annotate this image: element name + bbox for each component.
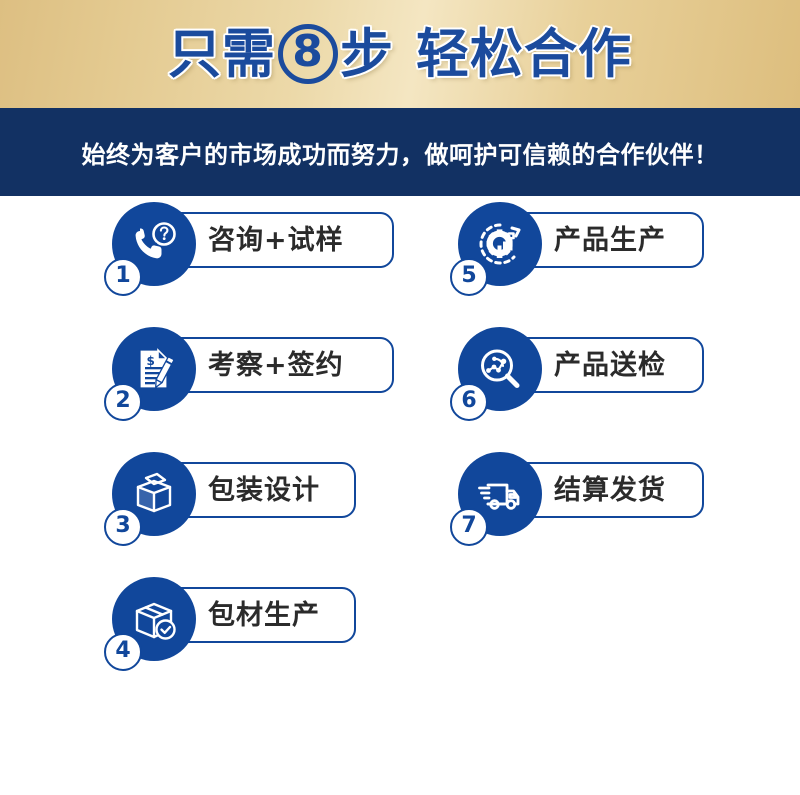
step-3-label: 包装设计 xyxy=(208,477,320,504)
step-6-label: 产品送检 xyxy=(554,352,666,379)
steps-section: 咨询+试样 1 考察+签约 xyxy=(0,196,800,795)
step-7-number-badge: 7 xyxy=(450,508,488,546)
header-gold-band: 只需 8 步 轻松合作 xyxy=(0,0,800,108)
header-title-row: 只需 8 步 轻松合作 xyxy=(0,0,800,108)
title-circled-eight: 8 xyxy=(278,24,338,84)
title-circled-eight-number: 8 xyxy=(292,30,324,74)
page-subtitle: 始终为客户的市场成功而努力，做呵护可信赖的合作伙伴！ xyxy=(82,135,719,170)
step-1-label-box: 咨询+试样 xyxy=(166,212,394,268)
step-7-label: 结算发货 xyxy=(554,477,666,504)
infographic-page: 只需 8 步 轻松合作 始终为客户的市场成功而努力，做呵护可信赖的合作伙伴！ 咨… xyxy=(0,0,800,795)
step-6-number: 6 xyxy=(461,390,476,412)
header-navy-band: 始终为客户的市场成功而努力，做呵护可信赖的合作伙伴！ xyxy=(0,108,800,196)
title-part-3: 轻松合作 xyxy=(416,28,632,81)
title-part-1: 只需 xyxy=(168,28,276,81)
step-1-label: 咨询+试样 xyxy=(208,227,344,254)
step-3-number-badge: 3 xyxy=(104,508,142,546)
step-1-number-badge: 1 xyxy=(104,258,142,296)
step-5-number: 5 xyxy=(461,265,476,287)
step-4-number: 4 xyxy=(115,640,130,662)
step-5-label: 产品生产 xyxy=(554,227,666,254)
page-title: 只需 8 步 轻松合作 xyxy=(168,24,632,84)
step-5-number-badge: 5 xyxy=(450,258,488,296)
step-1-number: 1 xyxy=(115,265,130,287)
step-4-number-badge: 4 xyxy=(104,633,142,671)
svg-text:$: $ xyxy=(147,354,155,368)
step-6-number-badge: 6 xyxy=(450,383,488,421)
step-7-number: 7 xyxy=(461,515,476,537)
step-2-number-badge: 2 xyxy=(104,383,142,421)
step-2-number: 2 xyxy=(115,390,130,412)
step-4-label: 包材生产 xyxy=(208,602,320,629)
title-part-2: 步 xyxy=(340,28,394,81)
step-2-label-box: 考察+签约 xyxy=(166,337,394,393)
step-2-label: 考察+签约 xyxy=(208,352,344,379)
step-3-number: 3 xyxy=(115,515,130,537)
